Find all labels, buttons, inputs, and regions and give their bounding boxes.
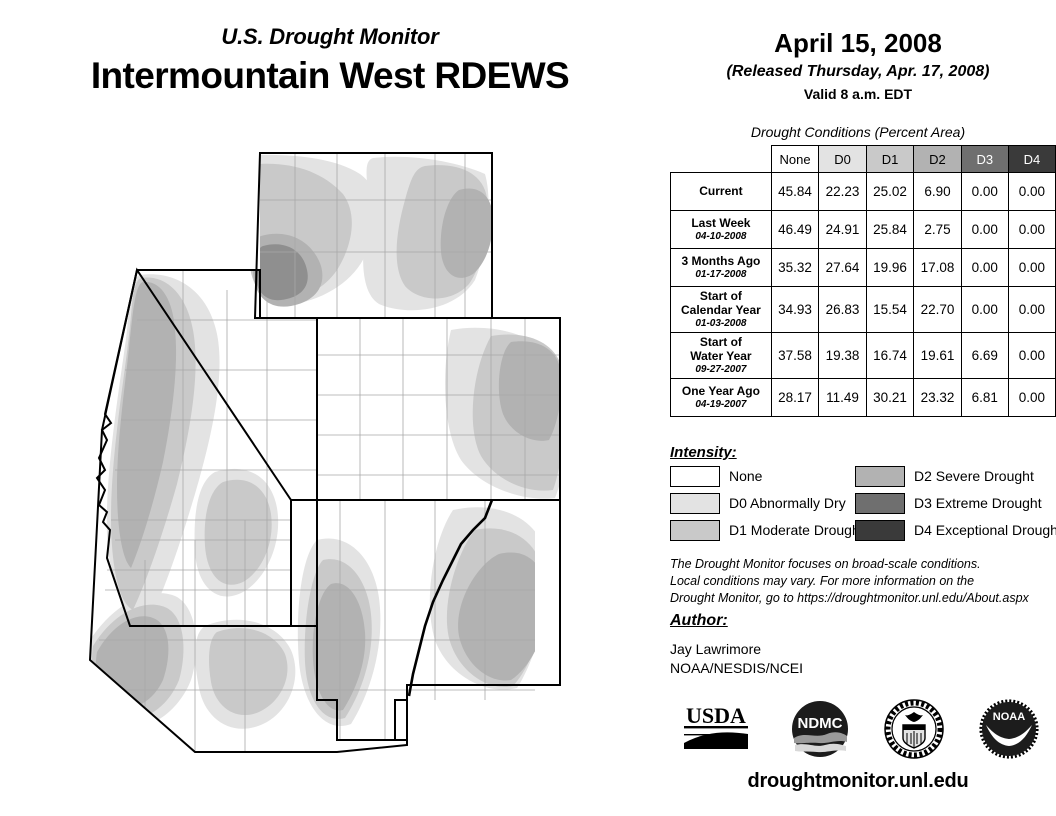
table-body: Current45.8422.2325.026.900.000.00Last W… [671, 173, 1056, 417]
cell-d3: 0.00 [961, 287, 1008, 333]
intensity-legend: NoneD2 Severe DroughtD0 Abnormally DryD3… [670, 466, 1050, 540]
cell-d1: 30.21 [866, 379, 913, 417]
cell-d4: 0.00 [1008, 211, 1055, 249]
page-title: Intermountain West RDEWS [0, 55, 660, 97]
svg-text:NDMC: NDMC [797, 715, 842, 732]
legend-label: D4 Exceptional Drought [914, 522, 1056, 538]
legend-label: D3 Extreme Drought [914, 495, 1042, 511]
legend-swatch [670, 493, 720, 514]
released-date: (Released Thursday, Apr. 17, 2008) [660, 63, 1056, 81]
row-date: 04-10-2008 [673, 231, 769, 243]
cell-d4: 0.00 [1008, 249, 1055, 287]
usda-logo: USDA [676, 695, 756, 763]
map-svg[interactable] [55, 140, 655, 785]
table-caption: Drought Conditions (Percent Area) [660, 124, 1056, 140]
column-header-d1: D1 [866, 146, 913, 173]
cell-d1: 16.74 [866, 333, 913, 379]
cell-d4: 0.00 [1008, 333, 1055, 379]
cell-d3: 0.00 [961, 173, 1008, 211]
cell-d0: 11.49 [819, 379, 866, 417]
table-header: NoneD0D1D2D3D4 [671, 146, 1056, 173]
noaa-logo: NOAA [978, 695, 1040, 763]
disclaimer-line-3: Drought Monitor, go to https://droughtmo… [670, 590, 1050, 607]
author-affiliation: NOAA/NESDIS/NCEI [670, 659, 803, 678]
cell-d1: 25.84 [866, 211, 913, 249]
disclaimer-line-1: The Drought Monitor focuses on broad-sca… [670, 556, 1050, 573]
table-row: Start ofWater Year09-27-200737.5819.3816… [671, 333, 1056, 379]
site-url[interactable]: droughtmonitor.unl.edu [660, 770, 1056, 793]
cell-d2: 22.70 [914, 287, 961, 333]
legend-swatch [855, 493, 905, 514]
cell-d2: 23.32 [914, 379, 961, 417]
legend-label: None [729, 468, 762, 484]
row-date: 01-03-2008 [673, 318, 769, 330]
row-date: 04-19-2007 [673, 399, 769, 411]
legend-label: D1 Moderate Drought [729, 522, 864, 538]
cell-none: 28.17 [771, 379, 818, 417]
logo-row: USDA NDMC NOAA [660, 694, 1056, 764]
legend-item: D1 Moderate Drought [670, 520, 855, 540]
commerce-seal [883, 695, 945, 763]
svg-text:NOAA: NOAA [993, 711, 1025, 723]
table-header-row: NoneD0D1D2D3D4 [671, 146, 1056, 173]
legend-label: D2 Severe Drought [914, 468, 1034, 484]
table-row: Current45.8422.2325.026.900.000.00 [671, 173, 1056, 211]
svg-text:USDA: USDA [686, 703, 746, 728]
disclaimer-line-2: Local conditions may vary. For more info… [670, 573, 1050, 590]
legend-item: D3 Extreme Drought [855, 493, 1040, 513]
cell-none: 45.84 [771, 173, 818, 211]
cell-d3: 0.00 [961, 249, 1008, 287]
table-row: 3 Months Ago01-17-200835.3227.6419.9617.… [671, 249, 1056, 287]
ndmc-logo: NDMC [789, 695, 851, 763]
cell-none: 35.32 [771, 249, 818, 287]
cell-d0: 24.91 [819, 211, 866, 249]
header-spacer [671, 146, 772, 173]
cell-d3: 6.81 [961, 379, 1008, 417]
column-header-d0: D0 [819, 146, 866, 173]
row-date: 01-17-2008 [673, 269, 769, 281]
valid-time: Valid 8 a.m. EDT [660, 86, 1056, 102]
legend-item: D4 Exceptional Drought [855, 520, 1040, 540]
cell-d0: 19.38 [819, 333, 866, 379]
cell-d2: 17.08 [914, 249, 961, 287]
cell-d2: 6.90 [914, 173, 961, 211]
row-label: Last Week04-10-2008 [671, 211, 772, 249]
cell-none: 37.58 [771, 333, 818, 379]
cell-d0: 27.64 [819, 249, 866, 287]
legend-item: D0 Abnormally Dry [670, 493, 855, 513]
cell-d2: 2.75 [914, 211, 961, 249]
table-row: Start ofCalendar Year01-03-200834.9326.8… [671, 287, 1056, 333]
cell-d1: 25.02 [866, 173, 913, 211]
drought-map[interactable] [55, 140, 655, 785]
date-block: April 15, 2008 (Released Thursday, Apr. … [660, 28, 1056, 102]
row-label: Current [671, 173, 772, 211]
row-label: Start ofWater Year09-27-2007 [671, 333, 772, 379]
legend-title: Intensity: [670, 444, 737, 461]
cell-d0: 22.23 [819, 173, 866, 211]
column-header-d3: D3 [961, 146, 1008, 173]
legend-label: D0 Abnormally Dry [729, 495, 846, 511]
column-header-d2: D2 [914, 146, 961, 173]
cell-d3: 6.69 [961, 333, 1008, 379]
column-header-none: None [771, 146, 818, 173]
row-date: 09-27-2007 [673, 364, 769, 376]
drought-conditions-table: NoneD0D1D2D3D4 Current45.8422.2325.026.9… [670, 145, 1056, 417]
author-info: Jay Lawrimore NOAA/NESDIS/NCEI [670, 640, 803, 678]
table-row: One Year Ago04-19-200728.1711.4930.2123.… [671, 379, 1056, 417]
cell-none: 46.49 [771, 211, 818, 249]
column-header-d4: D4 [1008, 146, 1055, 173]
cell-d2: 19.61 [914, 333, 961, 379]
legend-item: D2 Severe Drought [855, 466, 1040, 486]
author-heading: Author: [670, 612, 728, 630]
disclaimer-text: The Drought Monitor focuses on broad-sca… [670, 556, 1050, 607]
cell-d1: 19.96 [866, 249, 913, 287]
cell-d3: 0.00 [961, 211, 1008, 249]
table-row: Last Week04-10-200846.4924.9125.842.750.… [671, 211, 1056, 249]
valid-date: April 15, 2008 [660, 28, 1056, 59]
legend-swatch [855, 520, 905, 541]
cell-d4: 0.00 [1008, 173, 1055, 211]
title-block: U.S. Drought Monitor Intermountain West … [0, 24, 660, 97]
cell-none: 34.93 [771, 287, 818, 333]
legend-item: None [670, 466, 855, 486]
cell-d0: 26.83 [819, 287, 866, 333]
row-label: Start ofCalendar Year01-03-2008 [671, 287, 772, 333]
cell-d4: 0.00 [1008, 379, 1055, 417]
legend-swatch [670, 466, 720, 487]
cell-d1: 15.54 [866, 287, 913, 333]
legend-swatch [670, 520, 720, 541]
row-label: 3 Months Ago01-17-2008 [671, 249, 772, 287]
row-label: One Year Ago04-19-2007 [671, 379, 772, 417]
sub-title: U.S. Drought Monitor [0, 24, 660, 50]
author-name: Jay Lawrimore [670, 640, 803, 659]
legend-swatch [855, 466, 905, 487]
cell-d4: 0.00 [1008, 287, 1055, 333]
